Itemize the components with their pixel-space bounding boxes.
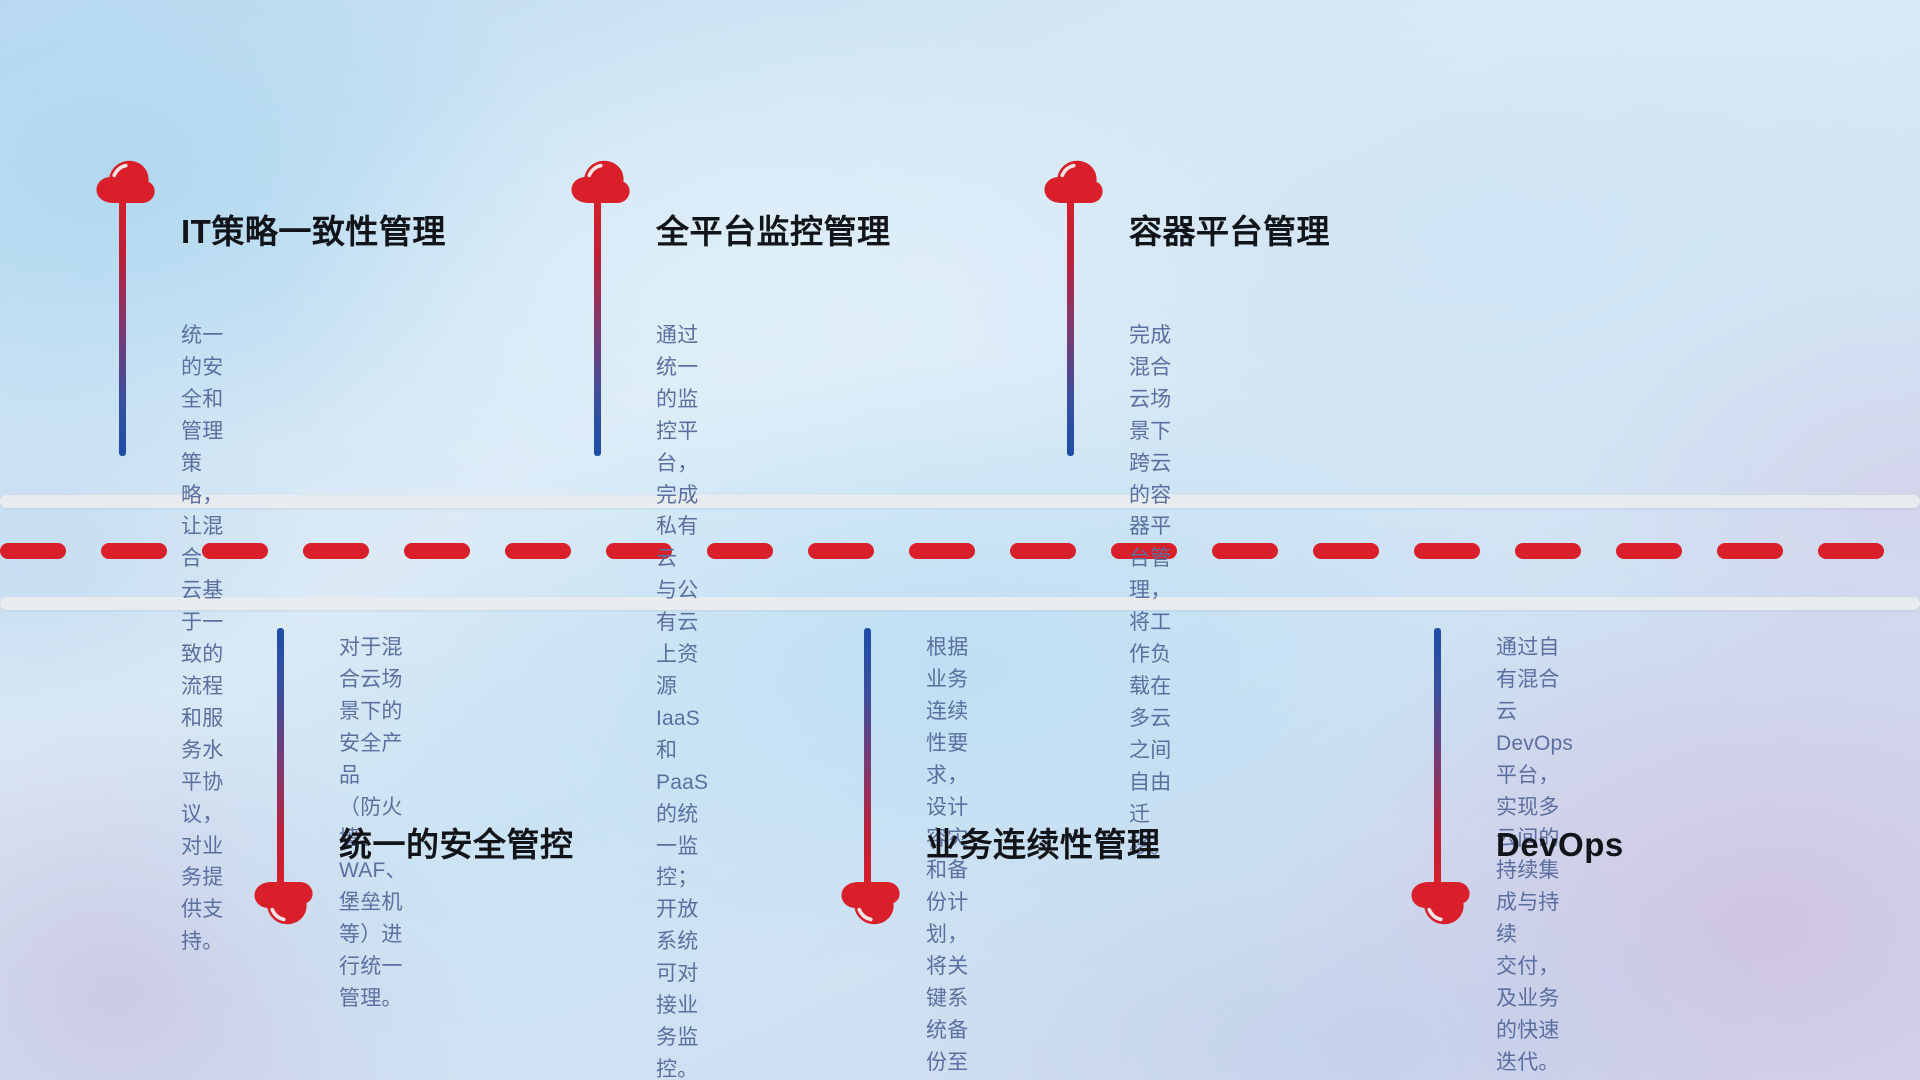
cloud-icon <box>253 881 313 925</box>
node-title: 全平台监控管理 <box>656 215 891 248</box>
node-title: 容器平台管理 <box>1129 215 1330 248</box>
node-description: 统一的安全和管理策略，让混合 云基于一致的流程和服务水平协 议，对业务提供支持。 <box>181 320 223 958</box>
cloud-icon <box>1410 881 1470 925</box>
node-title: 统一的安全管控 <box>339 828 574 861</box>
cloud-icon <box>840 881 900 925</box>
node-description: 完成混合云场景下跨云的容器平 台管理，将工作负载在多云之间 自由迁移。 <box>1129 320 1171 862</box>
node-title: 业务连续性管理 <box>926 828 1161 861</box>
node-description: 对于混合云场景下的安全产品 （防火墙、WAF、堡垒机等）进 行统一管理。 <box>339 632 407 1015</box>
connector-stem <box>119 196 126 456</box>
connector-stem <box>594 196 601 456</box>
node-title: DevOps <box>1496 828 1624 861</box>
node-description: 通过统一的监控平台，完成私有云 与公有云上资源IaaS和PaaS的统 一监控；开… <box>656 320 708 1080</box>
connector-stem <box>864 628 871 890</box>
connector-stem <box>277 628 284 890</box>
connector-stem <box>1067 196 1074 456</box>
connector-stem <box>1434 628 1441 890</box>
node-title: IT策略一致性管理 <box>181 215 446 248</box>
